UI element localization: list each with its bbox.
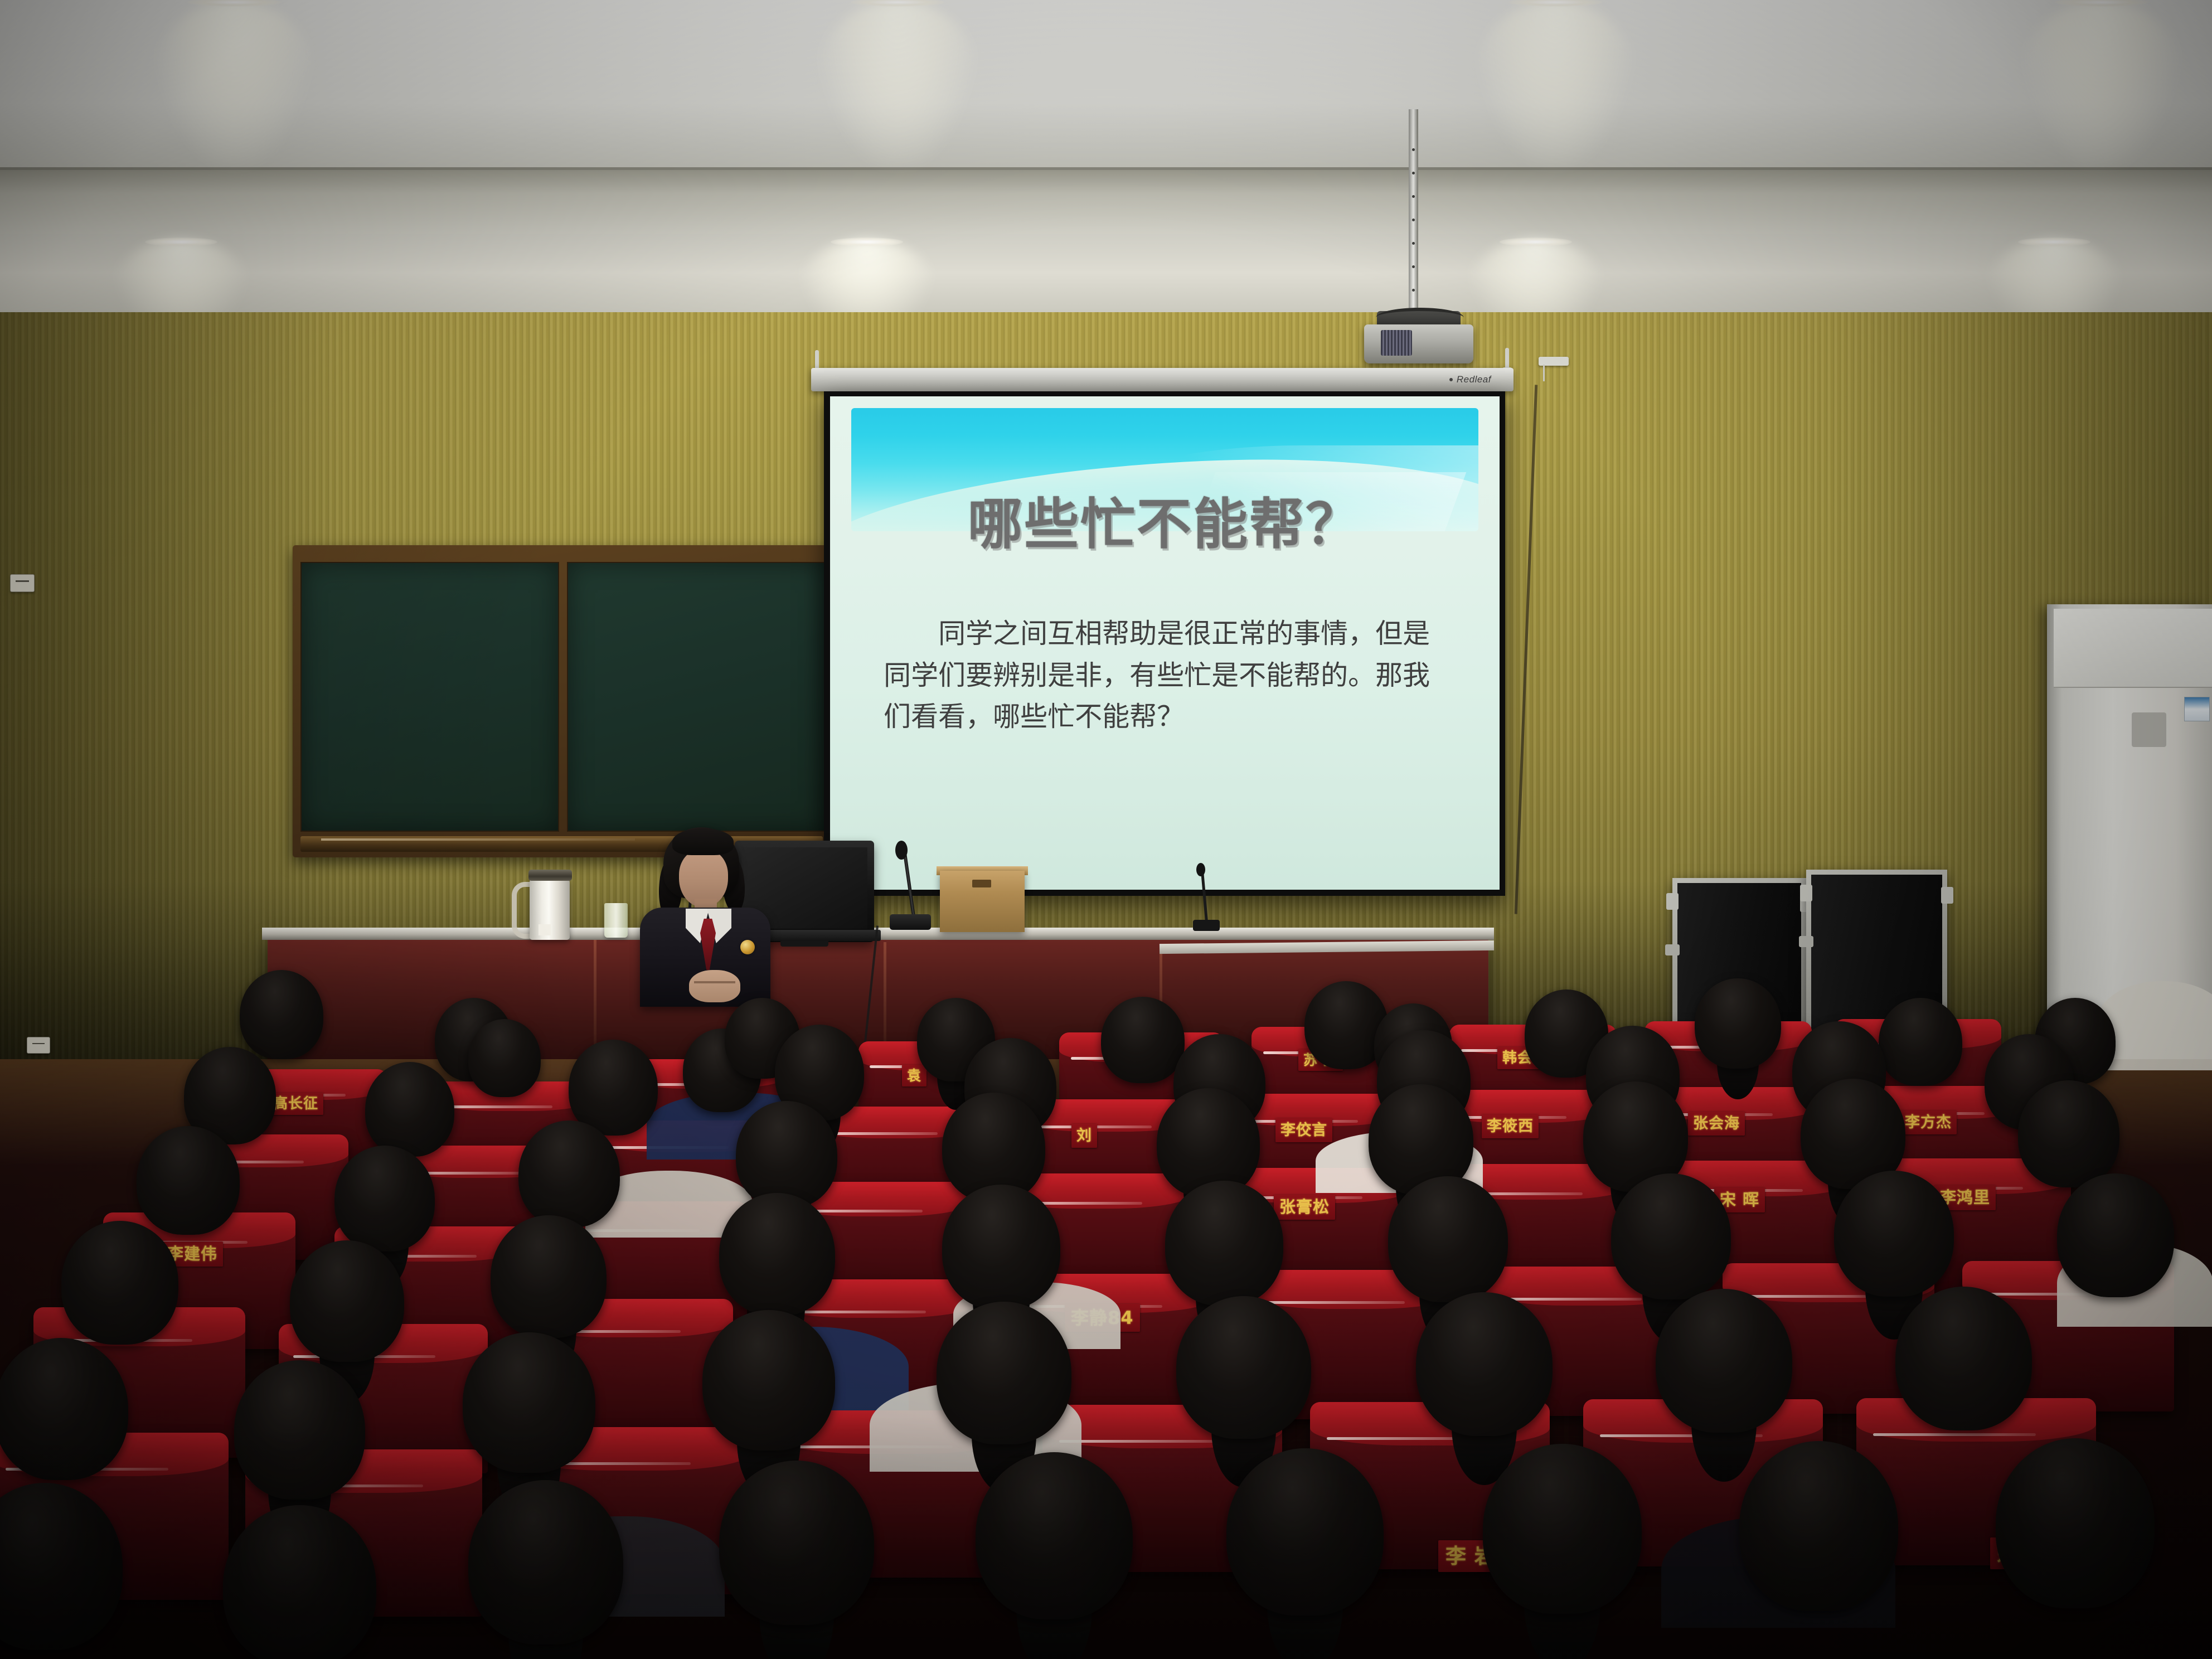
audience-head bbox=[491, 1215, 607, 1338]
infrared-receiver bbox=[1539, 357, 1569, 366]
seat-highlight bbox=[1498, 1298, 1642, 1301]
projection-screen: 哪些忙不能帮？ 同学之间互相帮助是很正常的事情，但是同学们要辨别是非，有些忙是不… bbox=[824, 391, 1505, 896]
audience-head bbox=[1996, 1438, 2155, 1608]
seat-nameplate: 李筱西 bbox=[1482, 1114, 1539, 1138]
audience-head bbox=[1226, 1448, 1384, 1616]
wooden-box-slot bbox=[972, 880, 991, 887]
air-conditioner-sticker bbox=[2184, 697, 2210, 721]
audience-head bbox=[569, 1040, 658, 1136]
audience-head bbox=[1895, 1287, 2032, 1430]
audience-head bbox=[1388, 1176, 1508, 1302]
seat-highlight bbox=[441, 1105, 553, 1108]
audience-head bbox=[290, 1240, 404, 1362]
gooseneck-microphone-head bbox=[895, 841, 908, 860]
audience-head bbox=[1656, 1289, 1792, 1433]
thermos-label bbox=[539, 924, 551, 935]
auditorium-photo: Redleaf 哪些忙不能帮？ 同学之间互相帮助是很正常的事情，但是同学们要辨别… bbox=[0, 0, 2212, 1659]
audience-head bbox=[2018, 1080, 2119, 1187]
chalkboard-panel-right bbox=[567, 562, 826, 832]
audience-head bbox=[1176, 1296, 1311, 1439]
audience-head bbox=[2057, 1173, 2174, 1297]
audience-head bbox=[334, 1146, 435, 1251]
ceiling-light-2 bbox=[814, 0, 981, 167]
ceiling-light-lower-fixture-1 bbox=[145, 237, 217, 246]
audience-head bbox=[1879, 998, 1962, 1086]
seat-nameplate: 张膏松 bbox=[1274, 1195, 1335, 1220]
audience-head bbox=[1611, 1173, 1731, 1299]
screen-hook-right bbox=[1505, 348, 1509, 370]
audience-head bbox=[0, 1338, 128, 1480]
ceiling-light-1 bbox=[151, 0, 318, 167]
thermos-cap bbox=[528, 870, 572, 881]
audience-head bbox=[719, 1193, 835, 1316]
ceiling-light-lower-fixture-4 bbox=[2018, 237, 2090, 246]
green-chalkboard bbox=[293, 545, 831, 857]
audience-head bbox=[976, 1452, 1133, 1619]
audience-head bbox=[137, 1126, 240, 1235]
screen-brand-label: Redleaf bbox=[1457, 374, 1491, 385]
audience-head bbox=[468, 1019, 541, 1097]
seat-nameplate: 李佼言 bbox=[1275, 1118, 1332, 1142]
seat-highlight bbox=[821, 1132, 938, 1135]
gooseneck-microphone-base bbox=[890, 914, 931, 930]
audience-head bbox=[61, 1221, 178, 1345]
audience-head bbox=[463, 1332, 595, 1473]
audience-head bbox=[1739, 1441, 1898, 1611]
projection-screen-housing: Redleaf bbox=[811, 368, 1514, 391]
seat-nameplate: 袁 bbox=[902, 1065, 926, 1086]
audience-head bbox=[1834, 1171, 1954, 1297]
audience-head bbox=[468, 1480, 623, 1645]
audience-head bbox=[240, 970, 323, 1059]
presenter-hands bbox=[689, 970, 740, 1002]
audience-head bbox=[702, 1310, 835, 1451]
glass-cup bbox=[604, 903, 628, 938]
slide-title: 哪些忙不能帮？ bbox=[830, 497, 1500, 552]
seat-nameplate: 刘 bbox=[1071, 1124, 1097, 1148]
second-microphone-base bbox=[1193, 920, 1220, 931]
seat-highlight bbox=[1261, 1301, 1405, 1304]
slide-content: 哪些忙不能帮？ 同学之间互相帮助是很正常的事情，但是同学们要辨别是非，有些忙是不… bbox=[830, 396, 1500, 890]
slide-body-text: 同学之间互相帮助是很正常的事情，但是同学们要辨别是非，有些忙是不能帮的。那我们看… bbox=[884, 613, 1446, 738]
ceiling-light-4 bbox=[2018, 0, 2185, 167]
audience-head bbox=[719, 1461, 874, 1625]
audience-head bbox=[1101, 997, 1185, 1083]
seat-nameplate: 李方杰 bbox=[1900, 1110, 1957, 1134]
seat-nameplate: 高长征 bbox=[268, 1093, 323, 1115]
seat-highlight bbox=[1873, 1433, 2036, 1436]
audience-head bbox=[365, 1062, 454, 1157]
chalkboard-panel-left bbox=[300, 562, 559, 832]
air-conditioner-display bbox=[2132, 712, 2166, 747]
audience-head bbox=[1483, 1444, 1642, 1614]
seat-highlight bbox=[784, 1311, 926, 1313]
audience-head bbox=[223, 1505, 376, 1659]
ceiling-light-3 bbox=[1472, 0, 1639, 167]
projector-vent-grill bbox=[1381, 330, 1412, 356]
audience-head bbox=[736, 1101, 837, 1208]
audience-head bbox=[518, 1120, 620, 1228]
air-conditioner-top-vent bbox=[2054, 609, 2212, 688]
audience-head bbox=[1157, 1088, 1260, 1197]
ceiling-light-lower-fixture-2 bbox=[831, 237, 903, 246]
audience-head bbox=[1695, 978, 1781, 1069]
seat-nameplate: 张会海 bbox=[1688, 1112, 1745, 1136]
seat-highlight bbox=[1738, 1295, 1881, 1298]
audience-head bbox=[1416, 1292, 1553, 1436]
audience-head bbox=[937, 1302, 1071, 1444]
audience-head bbox=[1165, 1181, 1283, 1306]
wall-plate-2[interactable] bbox=[27, 1037, 50, 1054]
audience-head bbox=[942, 1185, 1060, 1309]
audience-head bbox=[234, 1360, 365, 1500]
second-microphone-head bbox=[1196, 863, 1205, 876]
presenter-bangs bbox=[672, 828, 734, 855]
seat-highlight bbox=[1059, 1440, 1222, 1443]
presenter-badge bbox=[740, 940, 755, 954]
ceiling-light-lower-fixture-3 bbox=[1500, 237, 1572, 246]
wall-plate-1[interactable] bbox=[10, 574, 35, 592]
